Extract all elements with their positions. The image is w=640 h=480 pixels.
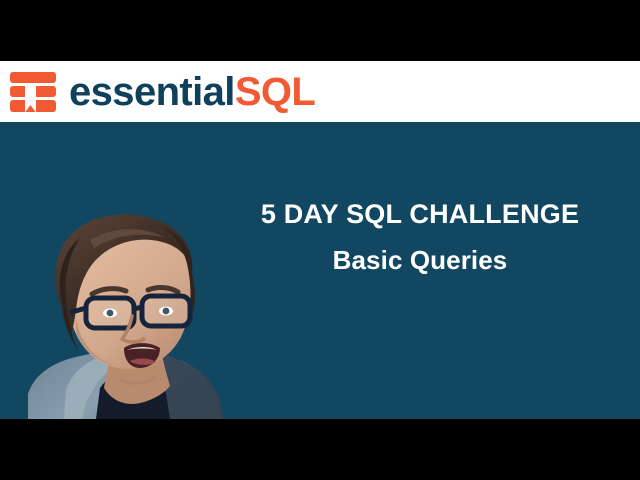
slide-background: 5 DAY SQL CHALLENGE Basic Queries <box>0 122 640 419</box>
brand-header-band: essentialSQL <box>0 61 640 122</box>
pupil-right <box>163 308 170 315</box>
essentialsql-logo: essentialSQL <box>8 65 315 118</box>
letterbox-bar-bottom <box>0 419 640 480</box>
stacked-bars-icon <box>8 70 58 114</box>
letterbox-bar-top <box>0 0 640 61</box>
logo-bar-top <box>10 72 56 83</box>
slide-title: 5 DAY SQL CHALLENGE <box>218 200 622 228</box>
slide-subtitle: Basic Queries <box>218 247 622 274</box>
presenter-webcam-cutout <box>20 212 230 419</box>
presenter-portrait <box>20 212 230 419</box>
video-frame: essentialSQL 5 DAY SQL CHALLENGE Basic Q… <box>0 0 640 480</box>
pupil-left <box>107 310 114 317</box>
brand-wordmark: essentialSQL <box>69 72 315 112</box>
brand-word-essential: essential <box>69 70 235 114</box>
brand-word-sql: SQL <box>235 70 315 114</box>
glasses-bridge <box>134 307 142 309</box>
